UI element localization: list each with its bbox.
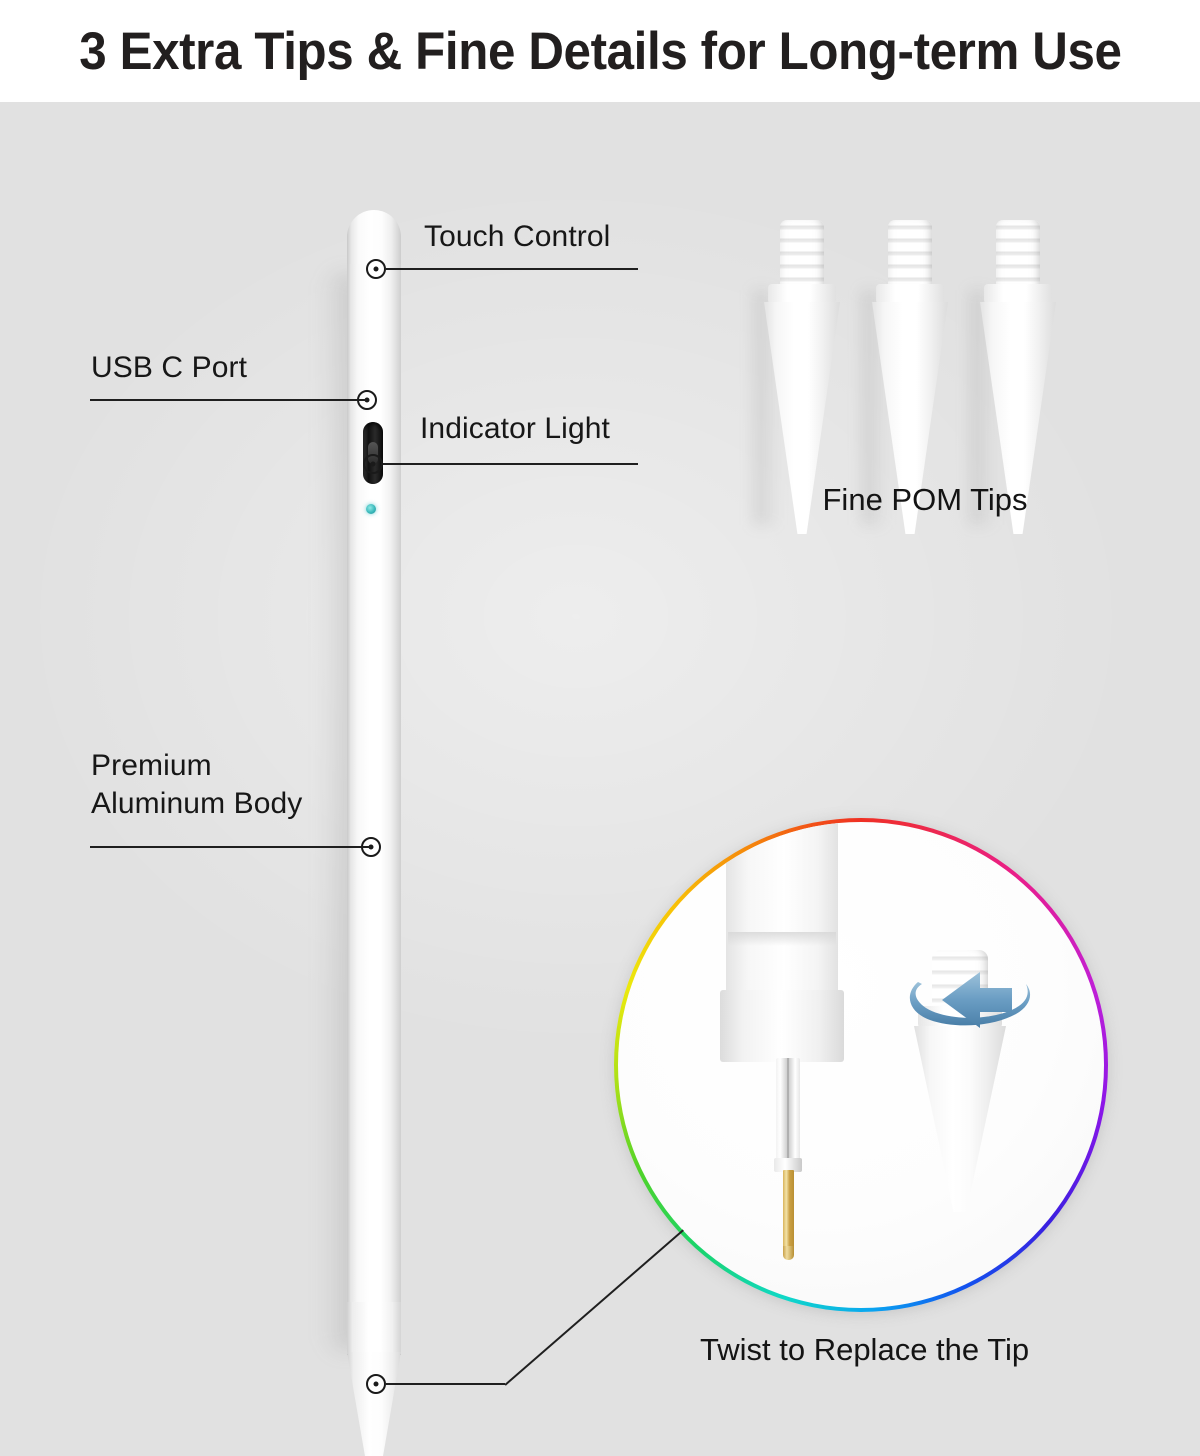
pom-tip-1-flange [768,284,836,304]
premium-body-line1: Premium Aluminum Body [91,749,302,820]
pom-tip-2-flange [876,284,944,304]
pom-tip-3-thread [996,220,1040,288]
title-band: 3 Extra Tips & Fine Details for Long-ter… [0,0,1200,102]
detail-gold-pin-tip [783,1246,794,1260]
usb-c-port-icon [363,422,383,484]
pom-tips-caption: Fine POM Tips [760,482,1090,518]
leader-touch-control [386,268,638,270]
leader-premium-body [90,846,371,848]
pen-cone-section [347,1352,401,1456]
detail-tip-cone [914,1026,1006,1212]
callout-label-usb-c-port: USB C Port [91,349,247,387]
marker-touch-control [366,259,386,279]
tip-replacement-detail-circle [614,818,1108,1312]
page-title: 3 Extra Tips & Fine Details for Long-ter… [79,25,1121,78]
pom-tip-2-thread [888,220,932,288]
pom-tip-1-thread [780,220,824,288]
callout-label-premium-body: Premium Aluminum Body [91,747,391,824]
leader-indicator-light [383,463,638,465]
detail-circle-inner [618,822,1104,1308]
detail-pen-barrel [726,822,838,1002]
leader-twist-tip-diagonal [504,1229,683,1385]
indicator-light-icon [366,504,376,514]
pom-tip-3-flange [984,284,1052,304]
detail-metal-shaft [776,1058,800,1166]
detail-pen-barrel-seam [728,932,836,946]
marker-twist-tip [366,1374,386,1394]
leader-usb-c-port [90,399,367,401]
rotation-arrow-icon [894,942,1044,1038]
detail-gold-pin [783,1170,794,1256]
leader-twist-tip-horizontal [386,1383,505,1385]
product-illustration-canvas: Touch Control USB C Port Indicator Light… [0,102,1200,1456]
detail-pen-collar [720,990,844,1062]
twist-to-replace-caption: Twist to Replace the Tip [700,1332,1029,1368]
pen-collar-ring [347,1302,401,1355]
callout-label-indicator-light: Indicator Light [420,410,610,448]
callout-label-touch-control: Touch Control [424,218,610,256]
marker-indicator-light [363,454,383,474]
